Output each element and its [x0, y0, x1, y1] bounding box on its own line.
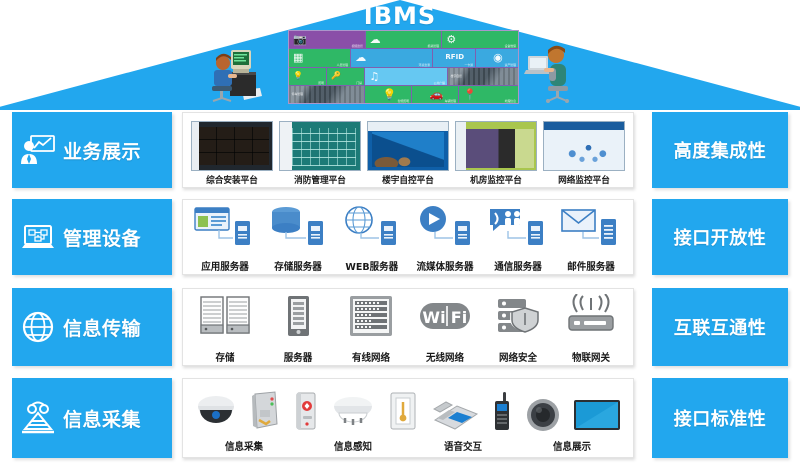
desktop-user-icon [200, 44, 262, 104]
tile-energy[interactable]: ☁ 能耗管理 [366, 31, 442, 48]
platform-card[interactable]: 网络监控平台 [542, 116, 627, 186]
tile-smart-lighting[interactable]: 💡 智能照明 [365, 86, 411, 103]
grid-icon: ▦ [293, 52, 303, 63]
door-access-panel-icon [250, 390, 280, 432]
storage-rack-icon [198, 292, 252, 340]
music-note-icon: ♫ [369, 71, 379, 82]
panel-device-management: 应用服务器 [182, 199, 634, 275]
tile-video-surveillance[interactable]: 📷 视频监控 [289, 31, 365, 48]
layer-row-device-management: 管理设备 [0, 199, 800, 275]
asset-icon: ◉ [493, 52, 503, 63]
svg-text:Wi: Wi [422, 308, 445, 327]
tile-environment[interactable]: ☁ 环境监测 [351, 49, 431, 66]
tile-personnel[interactable]: ▦ 人员管理 [289, 49, 350, 66]
roof-section: IBMS [0, 0, 800, 110]
network-item[interactable]: 服务器 [262, 292, 334, 364]
light-icon: 💡 [293, 72, 303, 80]
ibms-architecture-diagram: IBMS [0, 0, 800, 463]
car-icon: 🚗 [430, 89, 444, 100]
fire-panel-screenshot [279, 121, 361, 171]
feature-item-interconnectivity[interactable]: 互联互通性 [652, 288, 788, 366]
device-caption-row: 信息采集 信息感知 语音交互 信息展示 [189, 437, 627, 453]
cctv-camera-icon: 📷 [293, 34, 307, 45]
feature-label-high-integration: 高度集成性 [674, 137, 767, 163]
feature-label-interconnectivity: 互联互通性 [674, 314, 767, 340]
sidebar-item-device-management[interactable]: 管理设备 [12, 199, 172, 275]
data-collection-icon [20, 400, 56, 436]
mail-server-icon [559, 203, 623, 249]
sidebar-item-information-transmission[interactable]: 信息传输 [12, 288, 172, 366]
server-item[interactable]: 通信服务器 [481, 203, 554, 273]
tile-row: 停车管理 💡 智能照明 🚗 车辆管理 📍 地理信息 [289, 86, 518, 103]
display-screen-icon [573, 398, 621, 432]
dome-camera-icon [195, 392, 237, 432]
network-topology-screenshot [543, 121, 625, 171]
temperature-switch-panel-icon [388, 390, 418, 432]
tile-building-automation[interactable]: 楼宇自控 [448, 68, 518, 85]
device-caption: 信息展示 [553, 438, 591, 453]
sidebar-label-business-display: 业务展示 [63, 137, 141, 164]
idc-monitor-screenshot [455, 121, 537, 171]
tile-row: 💡 照明 🔑 门禁 ♫ 公共广播 楼宇自控 [289, 68, 518, 85]
device-row [189, 386, 627, 432]
device-caption: 信息采集 [225, 438, 263, 453]
wired-network-rack-icon [344, 292, 398, 340]
tile-gis[interactable]: 📍 地理信息 [459, 86, 518, 103]
server-item[interactable]: 应用服务器 [188, 203, 261, 273]
server-item[interactable]: 邮件服务器 [555, 203, 628, 273]
tile-row: 📷 视频监控 ☁ 能耗管理 ⚙ 设备维保 [289, 31, 518, 48]
sidebar-label-device-management: 管理设备 [63, 224, 141, 251]
database-server-icon [266, 203, 330, 249]
network-item[interactable]: 有线网络 [335, 292, 407, 364]
platform-card[interactable]: 机房监控平台 [454, 116, 539, 186]
rfid-icon: RFID [445, 54, 464, 61]
lamp-icon: 💡 [383, 89, 397, 100]
module-tile-grid: 📷 视频监控 ☁ 能耗管理 ⚙ 设备维保 ▦ 人员管理 ☁ [288, 30, 519, 104]
tile-row: ▦ 人员管理 ☁ 环境监测 RFID 一卡通 ◉ 资产管理 [289, 49, 518, 66]
feature-item-high-integration[interactable]: 高度集成性 [652, 112, 788, 188]
sidebar-item-business-display[interactable]: 业务展示 [12, 112, 172, 188]
tile-asset[interactable]: ◉ 资产管理 [476, 49, 518, 66]
tile-parking[interactable]: 停车管理 [289, 86, 364, 103]
gear-icon: ⚙ [446, 34, 456, 45]
walkie-talkie-icon [491, 390, 513, 432]
key-icon: 🔑 [331, 72, 341, 80]
tile-access[interactable]: 🔑 门禁 [327, 68, 364, 85]
tile-maintenance[interactable]: ⚙ 设备维保 [442, 31, 518, 48]
presentation-chart-person-icon [20, 132, 56, 168]
sidebar-item-information-collection[interactable]: 信息采集 [12, 378, 172, 458]
laptop-user-icon [522, 42, 580, 104]
cloud-fill-icon: ☁ [355, 52, 366, 63]
emergency-call-button-icon [293, 390, 319, 432]
iot-gateway-icon [564, 292, 618, 340]
feature-item-standard-interface[interactable]: 接口标准性 [652, 378, 788, 458]
platform-card[interactable]: 楼宇自控平台 [366, 116, 451, 186]
bms-screenshot [367, 121, 449, 171]
feature-label-open-interface: 接口开放性 [674, 224, 767, 250]
layer-row-information-transmission: 信息传输 [0, 288, 800, 366]
communication-server-icon [486, 203, 550, 249]
sidebar-label-information-collection: 信息采集 [63, 405, 141, 432]
network-security-shield-icon [491, 292, 545, 340]
platform-card[interactable]: 消防管理平台 [278, 116, 363, 186]
svg-text:Fi: Fi [450, 308, 466, 327]
globe-server-icon [339, 203, 403, 249]
server-item[interactable]: 存储服务器 [261, 203, 334, 273]
map-pin-icon: 📍 [463, 89, 477, 100]
network-item[interactable]: 物联网关 [555, 292, 627, 364]
globe-icon [20, 309, 56, 345]
app-window-server-icon [193, 203, 257, 249]
feature-label-standard-interface: 接口标准性 [674, 405, 767, 431]
network-item[interactable]: Wi Fi 无线网络 [409, 292, 481, 364]
layer-row-information-collection: 信息采集 [0, 378, 800, 458]
page-title: IBMS [0, 2, 800, 30]
panel-information-collection: 信息采集 信息感知 语音交互 信息展示 [182, 378, 634, 458]
panel-business-display: 综合安装平台 消防管理平台 楼宇自控平台 机房监控平台 网络监控平台 [182, 112, 634, 188]
sidebar-label-information-transmission: 信息传输 [63, 314, 141, 341]
wifi-icon: Wi Fi [418, 292, 472, 340]
tile-broadcast[interactable]: ♫ 公共广播 [365, 68, 446, 85]
network-item[interactable]: 存储 [189, 292, 261, 364]
device-caption: 语音交互 [444, 438, 482, 453]
server-item[interactable]: 流媒体服务器 [408, 203, 481, 273]
ip-phone-icon [431, 398, 479, 432]
tile-onecard[interactable]: RFID 一卡通 [433, 49, 475, 66]
panel-information-transmission: 存储 [182, 288, 634, 366]
network-item[interactable]: 网络安全 [482, 292, 554, 364]
laptop-network-icon [20, 219, 56, 255]
layer-row-business-display: 业务展示 综合安装平台 消防管理平台 楼宇自控平台 机房监控平台 [0, 112, 800, 188]
smoke-detector-icon [331, 394, 375, 432]
server-item[interactable]: WEB服务器 [335, 203, 408, 273]
play-server-icon [413, 203, 477, 249]
speaker-icon [526, 398, 560, 432]
server-tower-icon [271, 292, 325, 340]
cctv-wall-screenshot [191, 121, 273, 171]
tile-lighting[interactable]: 💡 照明 [289, 68, 326, 85]
feature-item-open-interface[interactable]: 接口开放性 [652, 199, 788, 275]
device-caption: 信息感知 [334, 438, 372, 453]
platform-card[interactable]: 综合安装平台 [190, 116, 275, 186]
tile-vehicle[interactable]: 🚗 车辆管理 [412, 86, 458, 103]
cloud-icon: ☁ [370, 34, 381, 45]
